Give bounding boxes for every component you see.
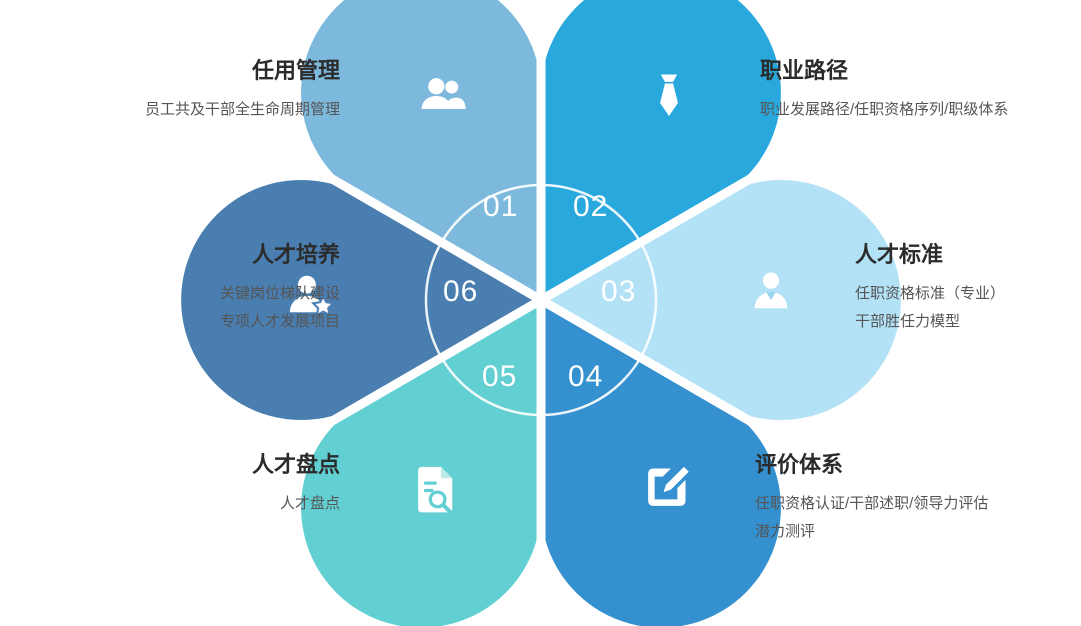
label-desc-02-0: 职业发展路径/任职资格序列/职级体系	[760, 96, 1081, 124]
label-block-01: 任用管理 员工共及干部全生命周期管理	[30, 56, 340, 124]
label-title-06: 人才培养	[40, 240, 340, 270]
label-title-02: 职业路径	[760, 56, 1081, 86]
label-block-05: 人才盘点 人才盘点	[90, 450, 340, 518]
label-desc-03-1: 干部胜任力模型	[855, 308, 1081, 336]
label-desc-04-1: 潜力测评	[755, 518, 1081, 546]
label-title-01: 任用管理	[30, 56, 340, 86]
label-title-04: 评价体系	[755, 450, 1081, 480]
label-block-06: 人才培养 关键岗位梯队建设 专项人才发展项目	[40, 240, 340, 336]
label-desc-05-0: 人才盘点	[90, 490, 340, 518]
label-title-03: 人才标准	[855, 240, 1081, 270]
label-title-05: 人才盘点	[90, 450, 340, 480]
talent-management-diagram: 01 02 03 04 05 06 任用管理 员工共及干部全	[0, 0, 1081, 626]
label-block-04: 评价体系 任职资格认证/干部述职/领导力评估 潜力测评	[755, 450, 1081, 546]
label-desc-03-0: 任职资格标准（专业）	[855, 280, 1081, 308]
label-desc-04-0: 任职资格认证/干部述职/领导力评估	[755, 490, 1081, 518]
label-block-03: 人才标准 任职资格标准（专业） 干部胜任力模型	[855, 240, 1081, 336]
label-desc-06-0: 关键岗位梯队建设	[40, 280, 340, 308]
label-desc-06-1: 专项人才发展项目	[40, 308, 340, 336]
label-desc-01-0: 员工共及干部全生命周期管理	[30, 96, 340, 124]
label-block-02: 职业路径 职业发展路径/任职资格序列/职级体系	[760, 56, 1081, 124]
